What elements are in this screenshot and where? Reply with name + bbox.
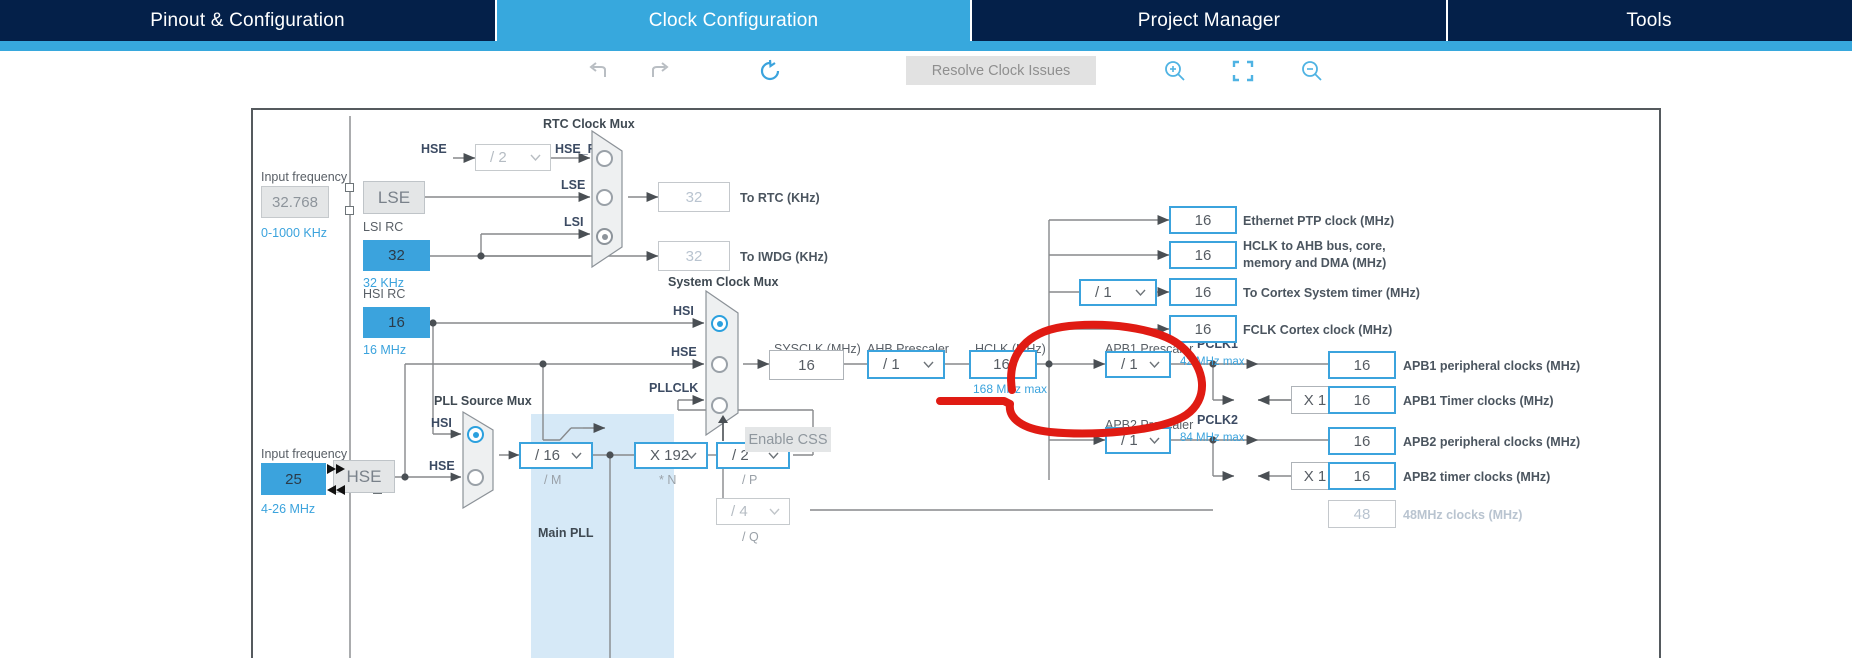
output-48mhz-clocks-field: 48 [1328,500,1396,528]
system-clock-mux-title: System Clock Mux [668,275,778,289]
lse-range-label: 0-1000 KHz [261,226,327,240]
clock-tree-canvas[interactable]: Input frequency 32.768 0-1000 KHz LSE HS… [251,108,1661,658]
system-clock-mux-pllclk-label: PLLCLK [649,381,698,395]
chevron-down-icon [1149,435,1160,446]
system-clock-mux-hse-label: HSE [671,345,697,359]
resolve-clock-issues-label: Resolve Clock Issues [932,63,1071,79]
apb2-prescaler-value: / 1 [1121,432,1138,449]
chevron-down-icon [571,450,582,461]
output-apb1-timer-clocks-field[interactable]: 16 [1328,386,1396,414]
hse-arrowheads-icon [327,462,375,498]
tab-pinout-configuration[interactable]: Pinout & Configuration [0,0,497,41]
tab-label: Clock Configuration [649,10,819,32]
output-apb2-timer-clocks-label: APB2 timer clocks (MHz) [1403,470,1550,484]
system-clock-mux-option-hse[interactable] [711,356,728,373]
pll-n-caption: * N [659,473,676,487]
hse-input-frequency-value: 25 [285,471,302,488]
hse-rtc-divider-value: / 2 [490,149,507,166]
reset-icon[interactable] [748,51,792,90]
fit-to-screen-icon[interactable] [1223,51,1263,90]
tab-accent-underline [0,41,1852,51]
ahb-prescaler-select[interactable]: / 1 [867,350,945,379]
output-apb2-peripheral-clocks-label: APB2 peripheral clocks (MHz) [1403,435,1580,449]
main-pll-title: Main PLL [538,526,594,540]
tab-project-manager[interactable]: Project Manager [972,0,1448,41]
pclk1-max-label: 42 MHz max [1180,356,1245,368]
tab-tools[interactable]: Tools [1448,0,1850,41]
pll-source-mux-hsi-label: HSI [431,416,452,430]
to-rtc-value-field: 32 [658,182,730,212]
output-hclk-ahb-bus-label-line2: memory and DMA (MHz) [1243,256,1386,270]
apb1-prescaler-select[interactable]: / 1 [1105,351,1171,378]
zoom-out-icon[interactable] [1292,51,1332,90]
apb1-timer-multiplier-value: X 1 [1304,392,1327,409]
lse-pad-top [345,183,354,192]
resolve-clock-issues-button[interactable]: Resolve Clock Issues [906,56,1096,85]
css-arrow-icon [716,415,730,441]
to-iwdg-label: To IWDG (KHz) [740,250,828,264]
tab-label: Project Manager [1138,10,1280,32]
pll-n-multiplier-select[interactable]: X 192 [634,442,708,469]
output-value: 48 [1354,506,1371,523]
ahb-prescaler-value: / 1 [883,356,900,373]
system-clock-mux-hsi-label: HSI [673,304,694,318]
pll-source-mux-hse-label: HSE [429,459,455,473]
rtc-mux-option-lsi[interactable] [596,228,613,245]
hclk-max-label: 168 MHz max [973,382,1047,396]
clock-tree-wires [253,110,1659,658]
output-ethernet-ptp-clock-field[interactable]: 16 [1169,206,1237,234]
to-iwdg-value-field: 32 [658,241,730,271]
pll-p-caption: / P [742,473,757,487]
lsi-rc-value-field[interactable]: 32 [363,240,430,271]
output-value: 16 [1354,392,1371,409]
pll-m-divider-select[interactable]: / 16 [519,442,593,469]
enable-css-button[interactable]: Enable CSS [745,427,831,452]
hse-input-frequency-field[interactable]: 25 [261,463,326,495]
hsi-rc-unit-label: 16 MHz [363,343,406,357]
output-48mhz-clocks-label: 48MHz clocks (MHz) [1403,508,1522,522]
rtc-mux-option-hse-rtc[interactable] [596,150,613,167]
cortex-system-timer-prescaler-select[interactable]: / 1 [1079,279,1157,306]
redo-icon[interactable] [638,51,678,90]
output-value: 16 [1195,212,1212,229]
output-apb1-peripheral-clocks-field[interactable]: 16 [1328,351,1396,379]
clock-toolbar: Resolve Clock Issues [0,51,1852,90]
hse-rtc-divider-select[interactable]: / 2 [475,144,551,171]
pll-q-value: / 4 [731,503,748,520]
hsi-rc-title: HSI RC [363,287,405,301]
rtc-mux-option-lse[interactable] [596,189,613,206]
lse-input-frequency-label: Input frequency [261,170,347,184]
hclk-value: 16 [993,356,1010,373]
pll-n-value: X 192 [650,447,689,464]
lse-block-label: LSE [378,188,410,208]
apb2-timer-multiplier-value: X 1 [1304,468,1327,485]
pll-m-caption: / M [544,473,561,487]
output-value: 16 [1195,284,1212,301]
pll-m-value: / 16 [535,447,560,464]
enable-css-label: Enable CSS [749,432,828,448]
chevron-down-icon [1135,287,1146,298]
output-value: 16 [1354,468,1371,485]
output-cortex-system-timer-label: To Cortex System timer (MHz) [1243,286,1420,300]
output-hclk-ahb-bus-label: HCLK to AHB bus, core, [1243,239,1386,253]
lse-input-frequency-value: 32.768 [272,194,318,211]
output-apb2-timer-clocks-field[interactable]: 16 [1328,462,1396,490]
hse-range-label: 4-26 MHz [261,502,315,516]
tab-clock-configuration[interactable]: Clock Configuration [497,0,972,41]
text-caret [1012,357,1013,373]
lsi-rc-value: 32 [388,247,405,264]
tab-label: Tools [1626,10,1671,32]
pll-source-mux[interactable] [461,410,501,510]
apb2-prescaler-select[interactable]: / 1 [1105,427,1171,454]
hse-input-frequency-label: Input frequency [261,447,347,461]
pll-source-mux-option-hsi[interactable] [467,426,484,443]
lse-pad-bottom [345,206,354,215]
output-ethernet-ptp-clock-label: Ethernet PTP clock (MHz) [1243,214,1394,228]
chevron-down-icon [1149,359,1160,370]
pclk2-label: PCLK2 [1197,413,1238,427]
pll-q-divider-select[interactable]: / 4 [716,498,790,525]
main-tab-bar: Pinout & Configuration Clock Configurati… [0,0,1852,41]
lse-block[interactable]: LSE [363,181,425,214]
system-clock-mux-option-pllclk[interactable] [711,397,728,414]
chevron-down-icon [769,506,780,517]
to-iwdg-value: 32 [686,248,703,265]
to-rtc-label: To RTC (KHz) [740,191,820,205]
pll-source-mux-option-hse[interactable] [467,469,484,486]
undo-icon[interactable] [580,51,620,90]
output-apb1-timer-clocks-label: APB1 Timer clocks (MHz) [1403,394,1554,408]
hsi-rc-value-field[interactable]: 16 [363,307,430,338]
hclk-value-field[interactable]: 16 [969,350,1037,379]
cortex-prescaler-value: / 1 [1095,284,1112,301]
sysclk-value: 16 [798,357,815,374]
lse-input-frequency-field[interactable]: 32.768 [261,186,329,218]
output-apb1-peripheral-clocks-label: APB1 peripheral clocks (MHz) [1403,359,1580,373]
system-clock-mux-option-hsi[interactable] [711,315,728,332]
chevron-down-icon [530,152,541,163]
lsi-rc-title: LSI RC [363,220,403,234]
output-fclk-cortex-clock-field[interactable]: 16 [1169,315,1237,343]
apb1-prescaler-value: / 1 [1121,356,1138,373]
to-rtc-value: 32 [686,189,703,206]
output-cortex-system-timer-field[interactable]: 16 [1169,278,1237,306]
output-value: 16 [1354,357,1371,374]
tab-label: Pinout & Configuration [150,10,345,32]
zoom-in-icon[interactable] [1155,51,1195,90]
output-fclk-cortex-clock-label: FCLK Cortex clock (MHz) [1243,323,1392,337]
hsi-rc-value: 16 [388,314,405,331]
pclk2-max-label: 84 MHz max [1180,432,1245,444]
output-value: 16 [1195,321,1212,338]
pll-q-caption: / Q [742,530,759,544]
chevron-down-icon [923,359,934,370]
output-value: 16 [1195,247,1212,264]
hse-div-input-signal-label: HSE [421,142,447,156]
output-apb2-peripheral-clocks-field[interactable]: 16 [1328,427,1396,455]
chevron-down-icon [686,450,697,461]
rtc-mux-lsi-label: LSI [564,215,583,229]
output-value: 16 [1354,433,1371,450]
pll-source-mux-title: PLL Source Mux [434,394,532,408]
sysclk-value-field[interactable]: 16 [769,350,844,380]
rtc-mux-lse-label: LSE [561,178,585,192]
output-hclk-ahb-bus-field[interactable]: 16 [1169,241,1237,269]
